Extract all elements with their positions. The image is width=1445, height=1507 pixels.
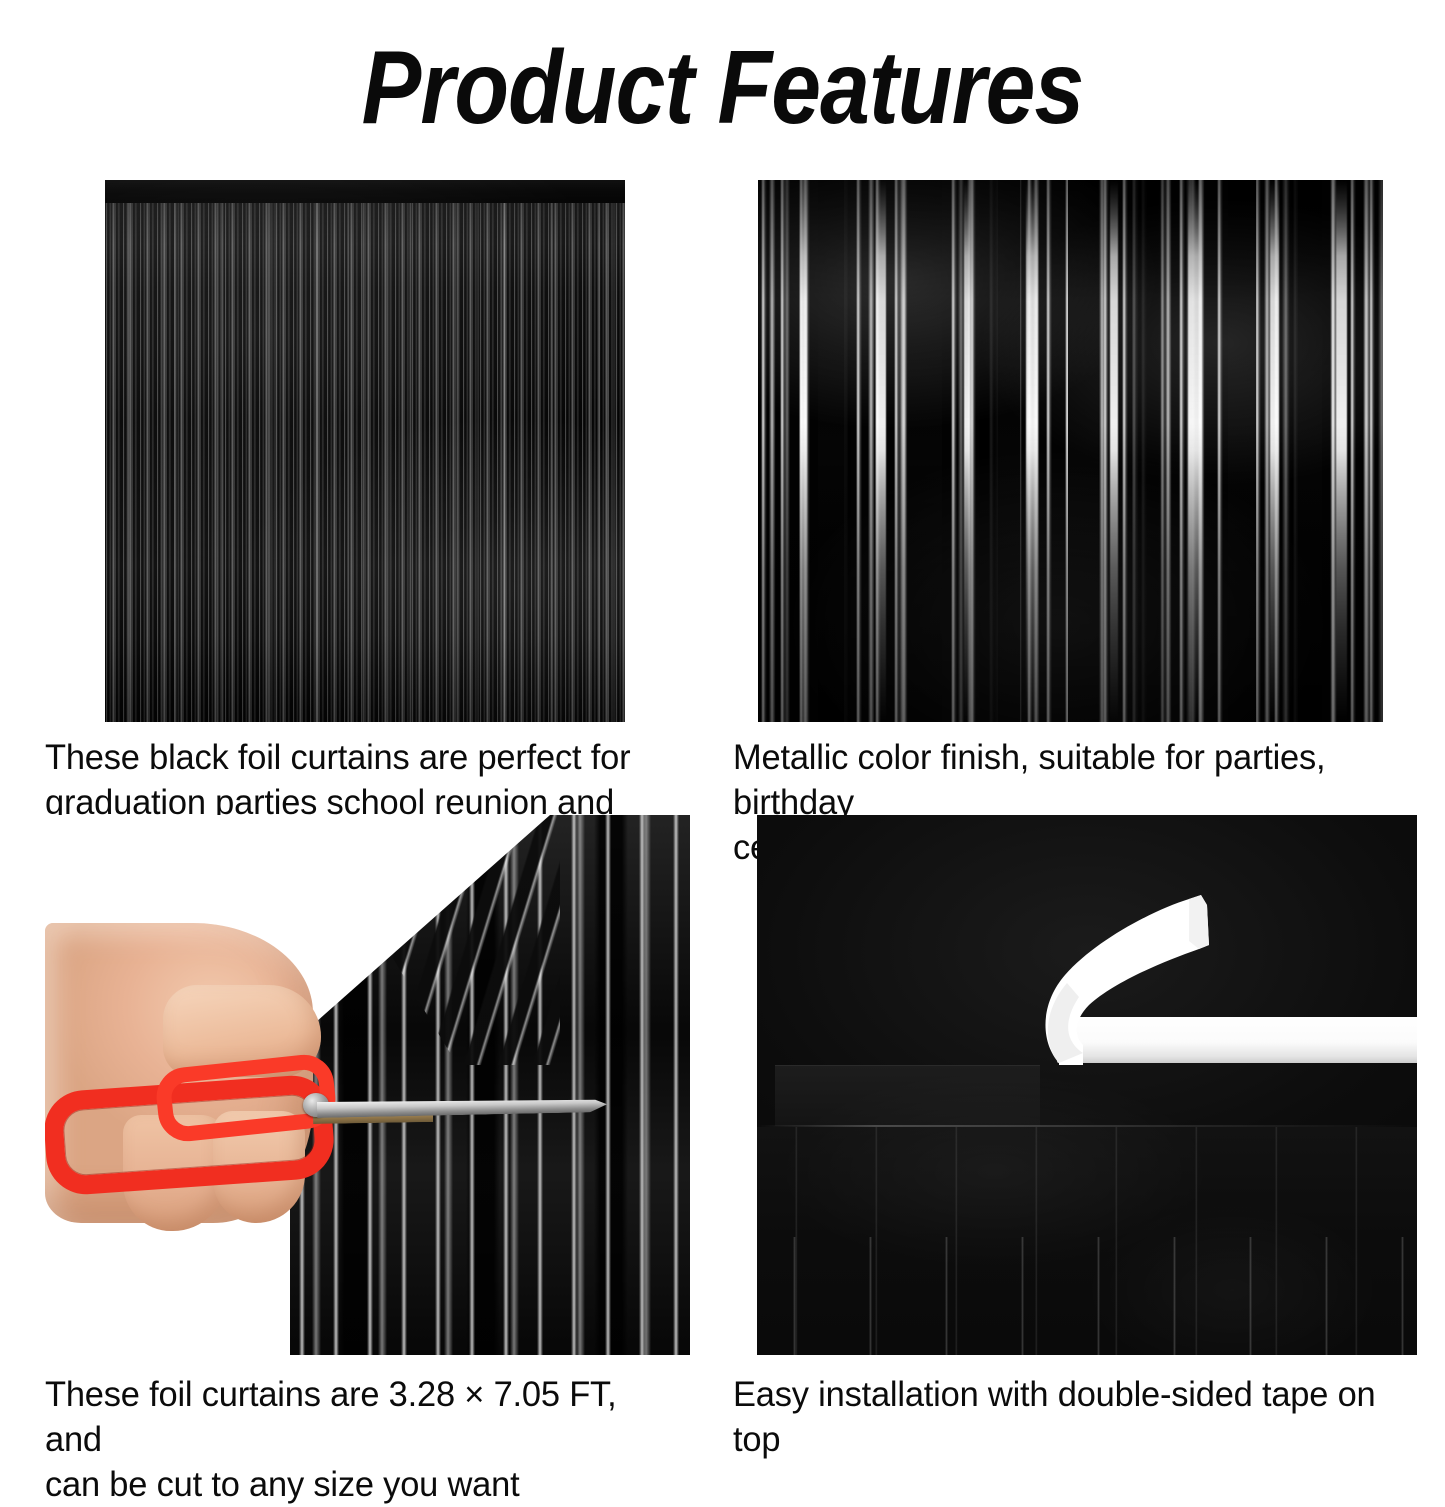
feature-2-caption-line-1: Metallic color finish, suitable for part… [733, 735, 1412, 825]
feature-4-caption-line-1: Easy installation with double-sided tape… [733, 1372, 1412, 1462]
foil-lighting-overlay [758, 180, 1383, 722]
feature-image-cutting-foil-curtain-with-scissors [45, 815, 690, 1355]
feature-1-caption-line-1: These black foil curtains are perfect fo… [45, 735, 666, 780]
double-sided-tape-peeled-curl [1039, 893, 1289, 1065]
feature-3-caption-line-2: can be cut to any size you want [45, 1462, 666, 1507]
foil-lighting-overlay [105, 180, 625, 722]
page-title: Product Features [101, 34, 1344, 143]
feature-4-caption: Easy installation with double-sided tape… [733, 1372, 1412, 1462]
feature-3-caption-line-1: These foil curtains are 3.28 × 7.05 FT, … [45, 1372, 666, 1462]
tape-curl-shape [1039, 893, 1289, 1065]
feature-image-double-sided-tape-on-curtain-top [757, 815, 1417, 1355]
feature-image-black-foil-curtain-full-view [105, 180, 625, 722]
feature-image-black-foil-curtain-closeup [758, 180, 1383, 722]
feature-3-caption: These foil curtains are 3.28 × 7.05 FT, … [45, 1372, 666, 1507]
